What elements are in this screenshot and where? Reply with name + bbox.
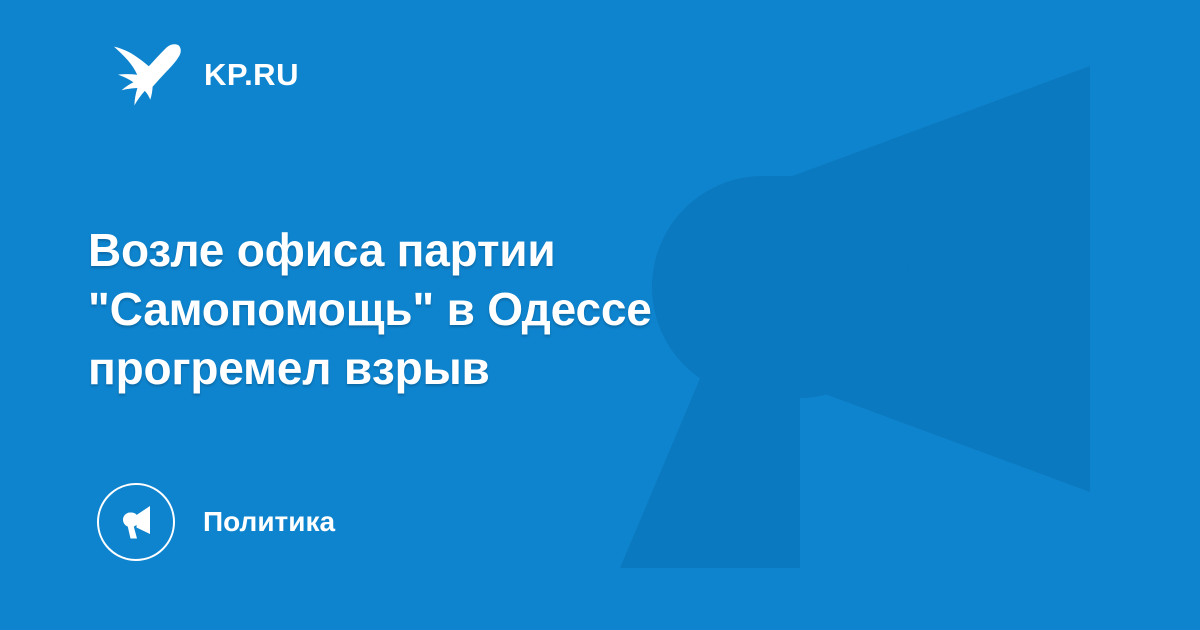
brand-logo[interactable]: KP.RU <box>108 38 299 110</box>
article-share-card: KP.RU Возле офиса партии "Самопомощь" в … <box>0 0 1200 630</box>
headline-line-2: "Самопомощь" в Одессе <box>88 280 848 339</box>
category-label: Политика <box>203 508 335 536</box>
headline: Возле офиса партии "Самопомощь" в Одессе… <box>88 221 848 398</box>
category-badge <box>97 483 175 561</box>
brand-name: KP.RU <box>204 59 299 90</box>
headline-line-3: прогремел взрыв <box>88 339 848 398</box>
swallow-bird-icon <box>108 41 182 107</box>
megaphone-icon <box>116 503 156 541</box>
category-tag[interactable]: Политика <box>97 483 335 561</box>
headline-line-1: Возле офиса партии <box>88 221 848 280</box>
